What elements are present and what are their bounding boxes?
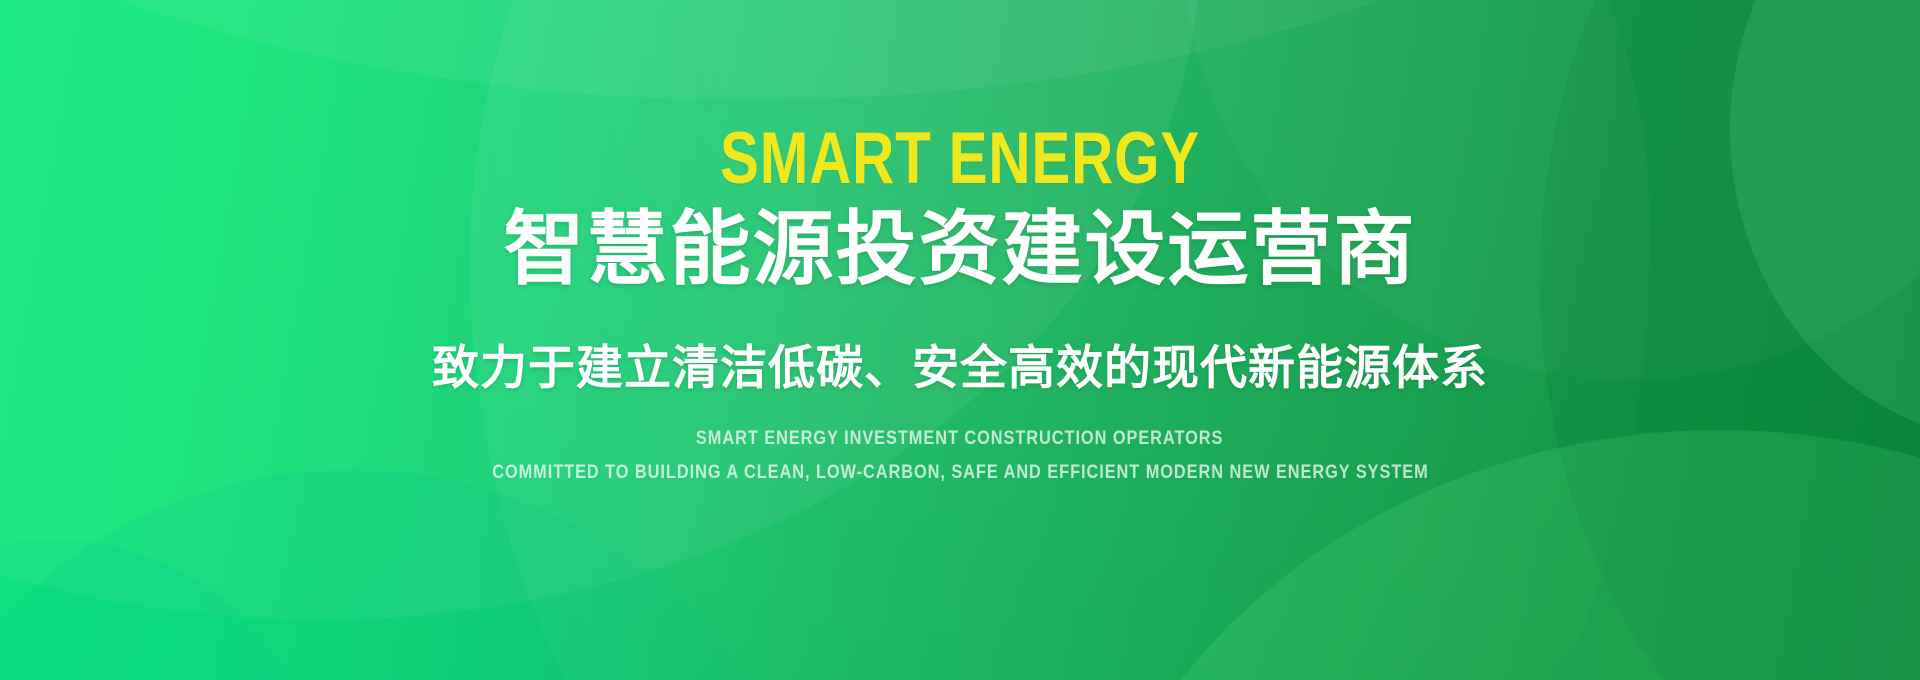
headline-chinese: 智慧能源投资建设运营商 [503, 205, 1416, 296]
subheadline-chinese: 致力于建立清洁低碳、安全高效的现代新能源体系 [432, 340, 1488, 396]
headline-english: SMART ENERGY [720, 122, 1200, 195]
caption-english-line-1: SMART ENERGY INVESTMENT CONSTRUCTION OPE… [696, 424, 1223, 453]
hero-banner: SMART ENERGY 智慧能源投资建设运营商 致力于建立清洁低碳、安全高效的… [0, 0, 1920, 680]
hero-content: SMART ENERGY 智慧能源投资建设运营商 致力于建立清洁低碳、安全高效的… [0, 0, 1920, 680]
caption-english-line-2: COMMITTED TO BUILDING A CLEAN, LOW-CARBO… [492, 458, 1428, 487]
